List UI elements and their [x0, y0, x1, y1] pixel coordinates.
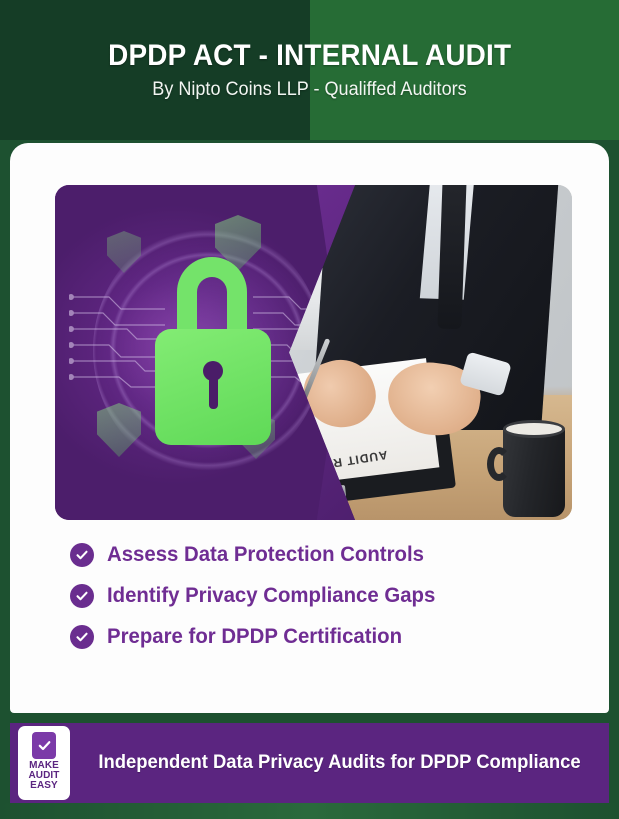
list-item-label: Identify Privacy Compliance Gaps: [107, 584, 435, 608]
shield-icon: [97, 403, 141, 457]
list-item: Assess Data Protection Controls: [70, 543, 550, 567]
list-item: Identify Privacy Compliance Gaps: [70, 584, 550, 608]
check-circle-icon: [70, 543, 94, 567]
logo-line-3: EASY: [30, 781, 58, 791]
page-subtitle: By Nipto Coins LLP - Qualiffed Auditors: [152, 79, 466, 101]
padlock-keyhole: [203, 361, 223, 381]
poster-canvas: DPDP ACT - INTERNAL AUDIT By Nipto Coins…: [0, 0, 619, 819]
bottom-accent-strip: [0, 803, 619, 819]
checkbox-icon: [32, 732, 56, 759]
benefits-list: Assess Data Protection Controls Identify…: [70, 543, 550, 649]
mug-handle: [487, 447, 511, 481]
footer-tagline: Independent Data Privacy Audits for DPDP…: [86, 752, 593, 774]
poster-footer: MAKE AUDIT EASY Independent Data Privacy…: [10, 723, 609, 803]
padlock-body: [155, 329, 271, 445]
brand-logo: MAKE AUDIT EASY: [18, 726, 70, 800]
padlock-icon: [155, 257, 271, 445]
page-title: DPDP ACT - INTERNAL AUDIT: [108, 39, 511, 73]
poster-header: DPDP ACT - INTERNAL AUDIT By Nipto Coins…: [0, 0, 619, 140]
check-circle-icon: [70, 584, 94, 608]
coffee-mug: [503, 425, 565, 517]
list-item-label: Prepare for DPDP Certification: [107, 625, 402, 649]
hero-image: AUDIT REPORT: [55, 185, 572, 520]
check-circle-icon: [70, 625, 94, 649]
list-item-label: Assess Data Protection Controls: [107, 543, 424, 567]
content-card: AUDIT REPORT: [10, 143, 609, 713]
list-item: Prepare for DPDP Certification: [70, 625, 550, 649]
mug-rim: [503, 420, 565, 438]
